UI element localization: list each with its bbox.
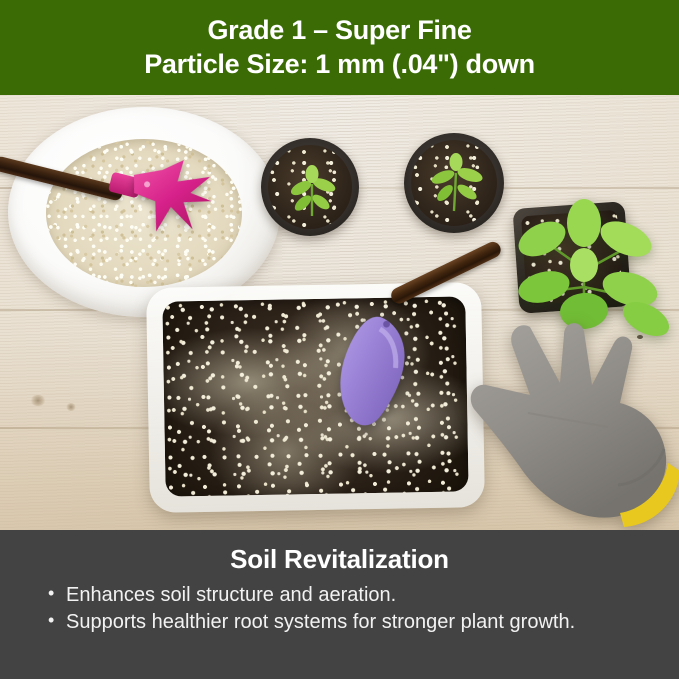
seedling-pot-left <box>261 138 359 236</box>
footer-panel: Soil Revitalization Enhances soil struct… <box>0 530 679 679</box>
seedling-plant <box>426 149 486 215</box>
seedling-pot-right <box>404 133 504 233</box>
gardening-glove <box>468 317 679 530</box>
list-item: Supports healthier root systems for stro… <box>48 610 649 636</box>
header-banner: Grade 1 – Super Fine Particle Size: 1 mm… <box>0 0 679 95</box>
wood-knot <box>30 395 46 406</box>
header-title-line-2: Particle Size: 1 mm (.04") down <box>144 49 535 80</box>
wood-knot <box>66 403 76 411</box>
product-photo <box>0 95 679 530</box>
benefit-list: Enhances soil structure and aeration. Su… <box>30 583 649 635</box>
pink-hand-cultivator-icon <box>126 153 218 239</box>
header-title-line-1: Grade 1 – Super Fine <box>207 15 471 46</box>
product-infographic: Grade 1 – Super Fine Particle Size: 1 mm… <box>0 0 679 679</box>
footer-title: Soil Revitalization <box>30 544 649 575</box>
seedling-plant <box>283 158 341 220</box>
list-item: Enhances soil structure and aeration. <box>48 583 649 609</box>
